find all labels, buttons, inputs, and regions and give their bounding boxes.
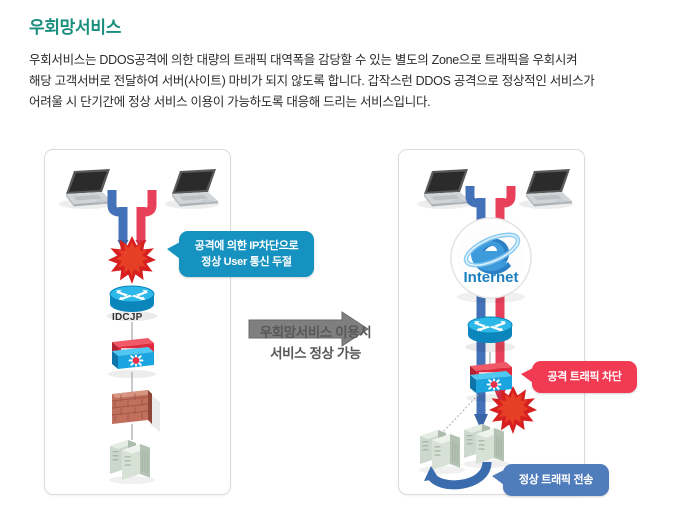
callout-tail (167, 242, 180, 259)
bypass-caption-line-2: 서비스 정상 가능 (270, 346, 361, 361)
paragraph-line-1: 우회서비스는 DDOS공격에 의한 대량의 트래픽 대역폭을 감당할 수 있는 … (29, 50, 654, 71)
callout-normal-traffic: 정상 트래픽 전송 (503, 464, 609, 496)
paragraph-line-2: 해당 고객서버로 전달하여 서버(사이트) 마비가 되지 않도록 합니다. 갑작… (29, 71, 654, 92)
callout-tail (492, 470, 504, 485)
callout-attack-block: 공격에 의한 IP차단으로 정상 User 통신 두절 (179, 231, 314, 277)
callout-attack-traffic-label: 공격 트래픽 차단 (547, 369, 621, 385)
callout-normal-traffic-label: 정상 트래픽 전송 (519, 472, 593, 488)
center-caption-block: 우회망서비스 이용시 서비스 정상 가능 (238, 310, 393, 364)
paragraph-line-3: 어려울 시 단기간에 정상 서비스 이용이 가능하도록 대응해 드리는 서비스입… (29, 92, 654, 113)
bypass-caption: 우회망서비스 이용시 서비스 정상 가능 (238, 322, 393, 364)
page-title: 우회망서비스 (29, 13, 121, 38)
after-diagram-panel (398, 149, 585, 495)
bypass-caption-line-1: 우회망서비스 이용시 (260, 325, 372, 340)
callout-attack-traffic: 공격 트래픽 차단 (532, 361, 637, 393)
callout-attack-block-line-2: 정상 User 통신 두절 (201, 254, 291, 270)
callout-attack-block-line-1: 공격에 의한 IP차단으로 (195, 238, 299, 254)
callout-tail (521, 368, 533, 383)
device-label-idcjp: IDCJP (112, 312, 142, 323)
page-root: 우회망서비스 우회서비스는 DDOS공격에 의한 대량의 트래픽 대역폭을 감당… (0, 0, 680, 525)
intro-paragraph: 우회서비스는 DDOS공격에 의한 대량의 트래픽 대역폭을 감당할 수 있는 … (29, 50, 654, 113)
